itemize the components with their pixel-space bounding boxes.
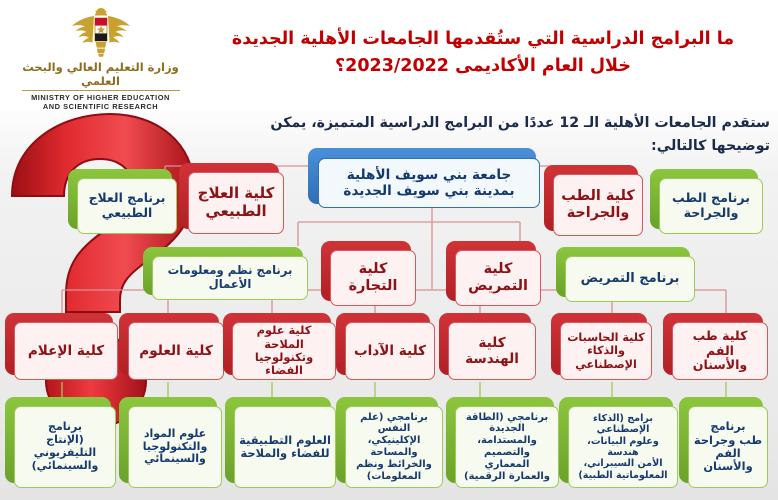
node-faculty-commerce[interactable]: كلية التجارة [330, 250, 416, 306]
program-label-line2: للفضاء والملاحة [240, 447, 329, 460]
faculty-label-line1: كلية الآداب [354, 343, 426, 359]
program-label-line2: والجراحة [684, 206, 739, 221]
program-label-line2: طب وجراحة [694, 434, 762, 447]
program-label-line1: برنامجي (علم النفس [350, 412, 438, 436]
faculty-label-line1: كلية [478, 335, 505, 351]
node-program-science[interactable]: علوم المواد والتكنولوجيا والسينمائي [128, 406, 222, 488]
node-program-medicine[interactable]: برنامج الطب والجراحة [659, 178, 763, 234]
node-faculty-computers[interactable]: كلية الحاسبات والذكاء الإصطناعي [560, 322, 652, 380]
faculty-label-line1: كلية الطب [561, 188, 634, 205]
faculty-label-line1: كلية الحاسبات [567, 331, 645, 344]
node-faculty-physiotherapy[interactable]: كلية العلاج الطبيعي [188, 172, 284, 234]
program-label-line2: (الإنتاج التليفزيوني [19, 434, 111, 460]
node-program-space[interactable]: العلوم التطبيقية للفضاء والملاحة [234, 406, 336, 488]
program-label-line1: برنامج الطب [672, 191, 750, 206]
program-label-line1: العلوم التطبيقية [239, 434, 331, 447]
subtitle-line-1: ستقدم الجامعات الأهلية الـ 12 عددًا من ا… [270, 115, 770, 131]
org-chart: جامعة بني سويف الأهلية بمدينة بني سويف ا… [0, 150, 778, 500]
title-line-2: خلال العام الأكاديمى 2023/2022؟ [195, 53, 771, 80]
faculty-label-line2: الهندسة [465, 351, 519, 367]
media-center-label: المركز الإعلامي [8, 116, 193, 131]
node-faculty-science[interactable]: كلية العلوم [128, 322, 224, 380]
program-label-line3: والخرائط ونظم [356, 459, 432, 471]
program-label-line2: وعلوم البيانات، هندسة [573, 436, 673, 459]
program-label-line1: برنامج العلاج [89, 191, 166, 206]
program-label-line1: برنامجي (الطاقة [466, 412, 548, 424]
node-faculty-dentistry[interactable]: كلية طب الفم والأسنان [672, 322, 768, 380]
faculty-label-line2: والجراحة [567, 205, 630, 222]
faculty-label-line1: كلية طب الفم [677, 329, 763, 359]
node-faculty-arts[interactable]: كلية الآداب [345, 322, 435, 380]
root-label-line1: جامعة بني سويف الأهلية [347, 167, 512, 183]
node-faculty-nursing[interactable]: كلية التمريض [455, 250, 541, 306]
program-label-line2: الجديدة والمستدامة، [460, 423, 554, 447]
faculty-label-line3: الإصطناعي [575, 358, 637, 371]
egypt-eagle-icon [69, 6, 133, 58]
node-program-mis[interactable]: برنامج نظم ومعلومات الأعمال [152, 256, 308, 300]
program-label-line1: علوم المواد [144, 428, 206, 441]
faculty-label-line1: كلية علوم الملاحة [237, 324, 331, 351]
node-root-university[interactable]: جامعة بني سويف الأهلية بمدينة بني سويف ا… [318, 158, 540, 208]
program-label-line4: والعمارة الرقمية) [464, 471, 550, 483]
node-program-nursing[interactable]: برنامج التمريض [565, 256, 695, 302]
root-label-line2: بمدينة بني سويف الجديدة [343, 183, 514, 199]
program-label-line1: برنامج [710, 420, 745, 433]
faculty-label-line1: كلية العلوم [139, 343, 212, 359]
program-label-line4: المعلوماتية الطبية) [578, 470, 667, 481]
program-label-line2: الطبيعي [102, 206, 153, 221]
node-program-dentistry[interactable]: برنامج طب وجراحة الفم والأسنان [688, 406, 768, 488]
node-program-physiotherapy[interactable]: برنامج العلاج الطبيعي [77, 178, 177, 234]
faculty-label-line2: التمريض [468, 278, 528, 295]
node-program-engineering[interactable]: برنامجي (الطاقة الجديدة والمستدامة، والت… [455, 406, 559, 488]
program-label-line1: برنامج نظم ومعلومات الأعمال [157, 264, 303, 291]
page-title: ما البرامج الدراسية التي ستُقدمها الجامع… [195, 26, 771, 80]
node-program-media[interactable]: برنامج (الإنتاج التليفزيوني والسينمائي) [14, 406, 116, 488]
program-label-line4: المعلومات) [367, 471, 421, 483]
title-line-1: ما البرامج الدراسية التي ستُقدمها الجامع… [232, 29, 734, 49]
program-label-line3: والتصميم المعماري [460, 447, 554, 471]
faculty-label-line2: التجارة [349, 278, 398, 295]
node-faculty-navigation[interactable]: كلية علوم الملاحة وتكنولوجيا الفضاء [232, 322, 336, 380]
faculty-label-line1: كلية الإعلام [28, 343, 104, 359]
infographic-canvas: وزارة التعليم العالي والبحث العلمي MINIS… [0, 0, 778, 500]
ministry-name-english-line1: MINISTRY OF HIGHER EDUCATION [8, 93, 193, 102]
faculty-label-line2: الطبيعي [205, 203, 266, 221]
faculty-label-line1: كلية [484, 261, 513, 278]
ministry-name-english-line2: AND SCIENTIFIC RESEARCH [8, 102, 193, 111]
faculty-label-line2: وتكنولوجيا الفضاء [237, 351, 331, 378]
node-faculty-media[interactable]: كلية الإعلام [14, 322, 118, 380]
faculty-label-line1: كلية العلاج [198, 185, 275, 203]
faculty-label-line2: والذكاء [587, 344, 625, 357]
program-label-line1: برامج (الذكاء الإصطناعي [573, 413, 673, 436]
program-label-line2: الإكلينيكي، والمساحة [350, 435, 438, 459]
ministry-logo: وزارة التعليم العالي والبحث العلمي MINIS… [8, 6, 193, 118]
program-label-line3: والسينمائي [144, 453, 206, 466]
node-program-arts[interactable]: برنامجي (علم النفس الإكلينيكي، والمساحة … [345, 406, 443, 488]
program-label-line3: الأمن السيبراني، [583, 458, 662, 469]
program-label-line3: الفم والأسنان [693, 447, 763, 474]
node-faculty-medicine[interactable]: كلية الطب والجراحة [553, 174, 643, 236]
program-label-line1: برنامج التمريض [581, 271, 680, 286]
node-faculty-engineering[interactable]: كلية الهندسة [448, 322, 536, 380]
faculty-label-line2: والأسنان [693, 358, 748, 373]
ministry-name-arabic: وزارة التعليم العالي والبحث العلمي [8, 60, 193, 88]
program-label-line3: والسينمائي) [32, 460, 99, 473]
logo-divider [22, 90, 180, 91]
node-program-computers[interactable]: برامج (الذكاء الإصطناعي وعلوم البيانات، … [568, 406, 678, 488]
faculty-label-line1: كلية [359, 261, 388, 278]
